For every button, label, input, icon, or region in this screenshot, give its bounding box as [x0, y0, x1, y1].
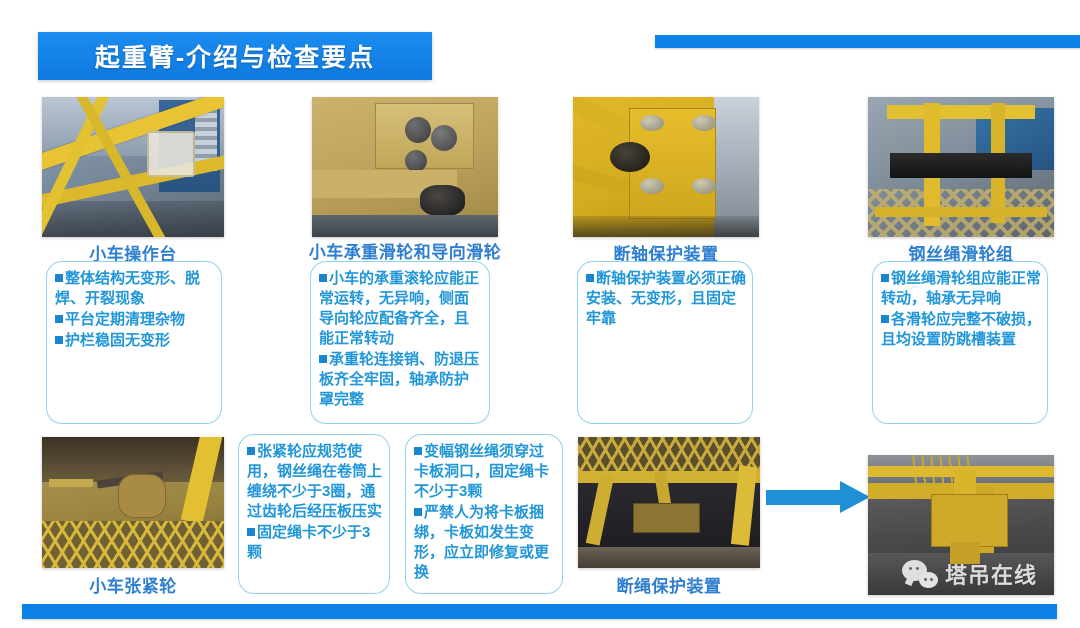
watermark: 塔吊在线: [902, 558, 1037, 590]
page-title: 起重臂-介绍与检查要点: [95, 38, 375, 74]
arrow-shaft: [766, 490, 844, 505]
bullet-item: 小车的承重滚轮应能正常运转，无异响，侧面导向轮应配备齐全，且能正常转动: [319, 269, 483, 349]
bullet-item: 承重轮连接销、防退压板齐全牢固，轴承防护罩完整: [319, 350, 483, 410]
bullet-item: 断轴保护装置必须正确安装、无变形，且固定牢靠: [586, 269, 746, 329]
bullet-item: 整体结构无变形、脱焊、开裂现象: [55, 269, 215, 309]
bullet-item: 钢丝绳滑轮组应能正常转动，轴承无异响: [881, 269, 1041, 309]
title-banner: 起重臂-介绍与检查要点: [38, 32, 432, 80]
bullet-list-2: 小车的承重滚轮应能正常运转，无异响，侧面导向轮应配备齐全，且能正常转动 承重轮连…: [319, 269, 483, 410]
bullet-list-5: 张紧轮应规范使用，钢丝绳在卷筒上缠绕不少于3圈，通过齿轮后经压板压实 固定绳卡不…: [247, 442, 383, 563]
bullet-item: 变幅钢丝绳须穿过卡板洞口，固定绳卡不少于3颗: [414, 442, 556, 502]
caption-bottom-left: 小车张紧轮: [42, 572, 224, 597]
rope-break-protection-device-photo: [578, 437, 760, 568]
bullet-list-3: 断轴保护装置必须正确安装、无变形，且固定牢靠: [586, 269, 746, 329]
slide-canvas: 起重臂-介绍与检查要点 小车操作台 小车承重滑轮和导向滑轮 断轴保护装置 钢丝绳…: [0, 0, 1080, 628]
trolley-load-and-guide-pulley-photo: [312, 97, 498, 237]
right-arrow: [766, 481, 876, 511]
bullet-list-6: 变幅钢丝绳须穿过卡板洞口，固定绳卡不少于3颗 严禁人为将卡板捆绑，卡板如发生变形…: [414, 442, 556, 583]
bullet-box-bottom-a: 张紧轮应规范使用，钢丝绳在卷筒上缠绕不少于3圈，通过齿轮后经压板压实 固定绳卡不…: [238, 434, 390, 594]
caption-bottom-mid: 断绳保护装置: [578, 572, 760, 597]
bullet-item: 张紧轮应规范使用，钢丝绳在卷筒上缠绕不少于3圈，通过齿轮后经压板压实: [247, 442, 383, 522]
bullet-box-column-3: 断轴保护装置必须正确安装、无变形，且固定牢靠: [577, 261, 753, 424]
bullet-item: 各滑轮应完整不破损，且均设置防跳槽装置: [881, 310, 1041, 350]
arrow-head: [840, 481, 870, 513]
bullet-item: 固定绳卡不少于3颗: [247, 523, 383, 563]
bullet-box-column-2: 小车的承重滚轮应能正常运转，无异响，侧面导向轮应配备齐全，且能正常转动 承重轮连…: [310, 261, 490, 424]
trolley-tension-wheel-photo: [42, 437, 224, 568]
footer-accent-bar: [22, 604, 1057, 619]
watermark-text: 塔吊在线: [945, 558, 1037, 590]
bullet-list-4: 钢丝绳滑轮组应能正常转动，轴承无异响 各滑轮应完整不破损，且均设置防跳槽装置: [881, 269, 1041, 350]
wechat-logo-icon: [902, 560, 938, 588]
bullet-item: 护栏稳固无变形: [55, 331, 215, 351]
bullet-item: 平台定期清理杂物: [55, 310, 215, 330]
bullet-item: 严禁人为将卡板捆绑，卡板如发生变形，应立即修复或更换: [414, 503, 556, 583]
bullet-list-1: 整体结构无变形、脱焊、开裂现象 平台定期清理杂物 护栏稳固无变形: [55, 269, 215, 351]
shaft-break-protection-device-photo: [573, 97, 759, 237]
wire-rope-pulley-block-photo: [868, 97, 1054, 237]
bullet-box-column-1: 整体结构无变形、脱焊、开裂现象 平台定期清理杂物 护栏稳固无变形: [46, 261, 222, 424]
bullet-box-column-4: 钢丝绳滑轮组应能正常转动，轴承无异响 各滑轮应完整不破损，且均设置防跳槽装置: [872, 261, 1048, 424]
caption-column-2: 小车承重滑轮和导向滑轮: [292, 238, 518, 263]
trolley-operating-platform-photo: [42, 97, 224, 237]
bullet-box-bottom-b: 变幅钢丝绳须穿过卡板洞口，固定绳卡不少于3颗 严禁人为将卡板捆绑，卡板如发生变形…: [405, 434, 563, 594]
header-accent-bar: [655, 35, 1080, 48]
